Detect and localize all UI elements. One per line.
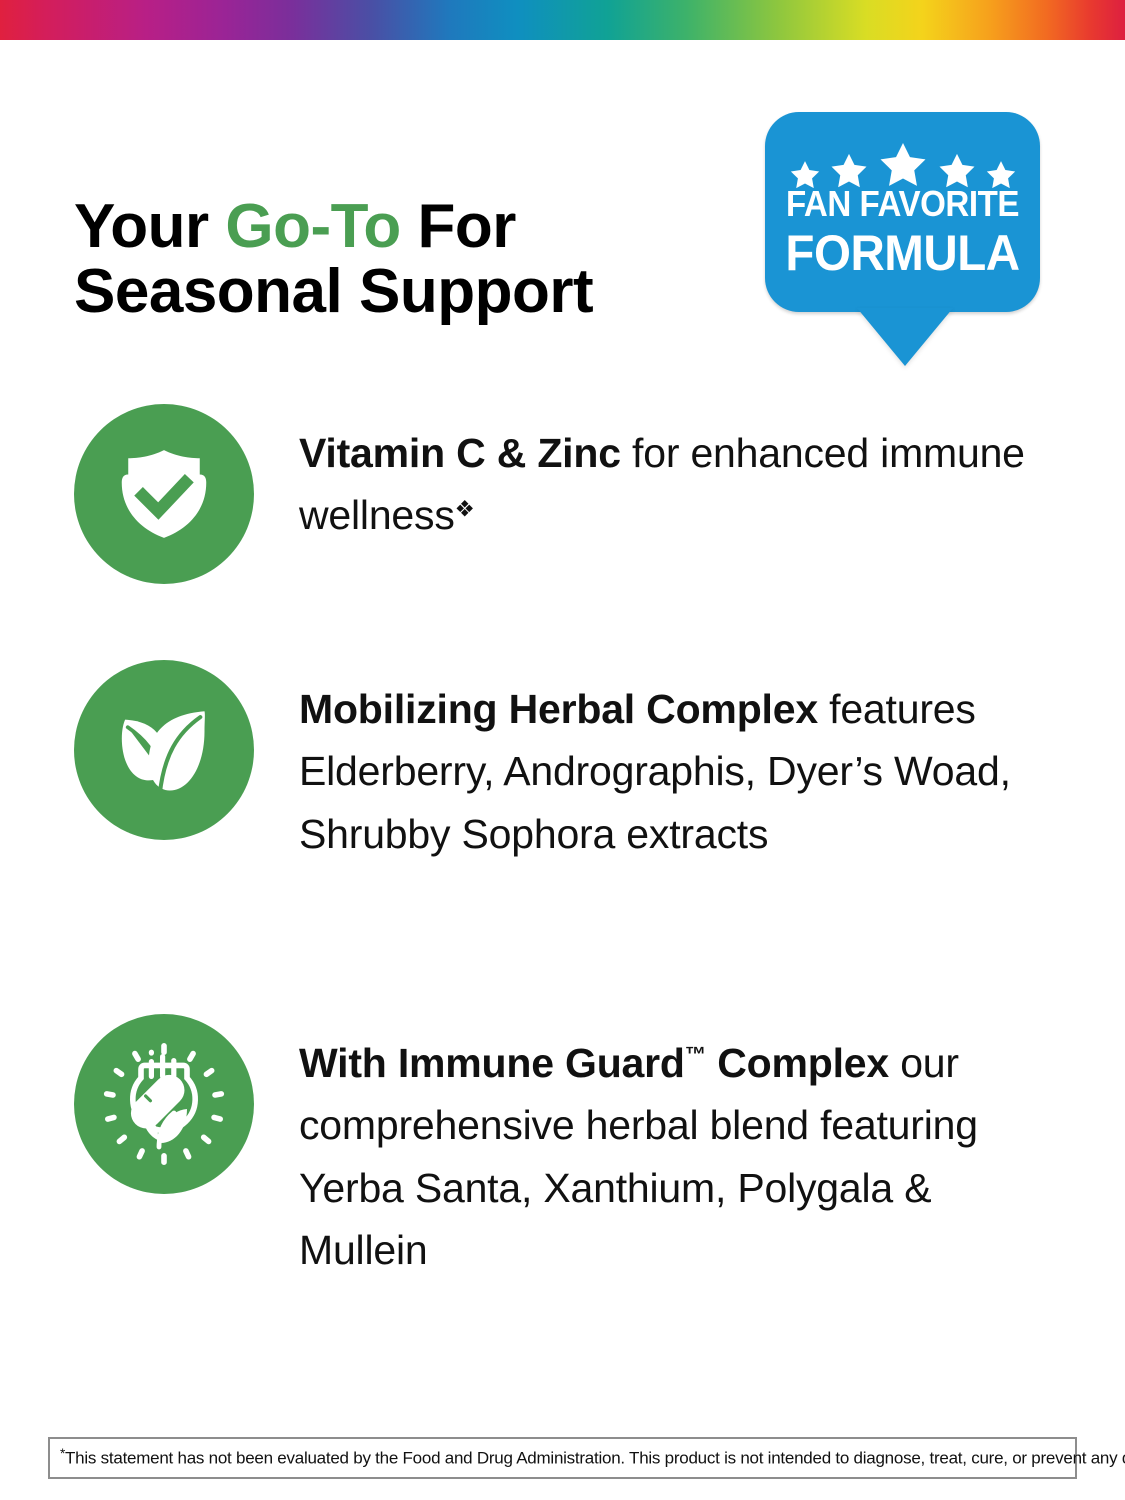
headline-accent-goto: Go-To	[225, 192, 400, 261]
badge-label-line-2: FORMULA	[772, 228, 1033, 278]
headline-line-2: Seasonal Support	[74, 257, 593, 326]
fan-favorite-badge: FAN FAVORITE FORMULA	[765, 112, 1040, 312]
feature-title: With Immune Guard™ Complex	[299, 1040, 889, 1086]
lightbulb-capsule-leaf-icon	[74, 1014, 254, 1194]
feature-row: Vitamin C & Zinc for enhanced immune wel…	[74, 404, 1034, 584]
headline-line-1: Your Go-To For	[74, 192, 516, 261]
feature-title-pre: With Immune Guard	[299, 1040, 685, 1086]
feature-row: With Immune Guard™ Complex our comprehen…	[74, 1014, 1034, 1281]
badge-label: FAN FAVORITE FORMULA	[765, 186, 1040, 278]
feature-row: Mobilizing Herbal Complex features Elder…	[74, 660, 1034, 865]
footnote-marker-icon: ❖	[455, 497, 475, 522]
feature-title: Vitamin C & Zinc	[299, 430, 621, 476]
leaves-icon	[74, 660, 254, 840]
badge-label-line-1: FAN FAVORITE	[776, 186, 1029, 222]
trademark-icon: ™	[685, 1043, 706, 1067]
disclaimer-text: This statement has not been evaluated by…	[65, 1448, 1125, 1467]
feature-description: Mobilizing Herbal Complex features Elder…	[254, 660, 1034, 865]
feature-title-post: Complex	[706, 1040, 889, 1086]
feature-description: With Immune Guard™ Complex our comprehen…	[254, 1014, 1034, 1281]
headline-text-for: For	[401, 192, 516, 261]
fda-disclaimer: *This statement has not been evaluated b…	[48, 1437, 1077, 1479]
feature-title: Mobilizing Herbal Complex	[299, 686, 818, 732]
badge-bubble-tail	[857, 308, 953, 366]
feature-description: Vitamin C & Zinc for enhanced immune wel…	[254, 404, 1034, 547]
page-title: Your Go-To For Seasonal Support	[74, 194, 714, 324]
shield-check-icon	[74, 404, 254, 584]
headline-text-your: Your	[74, 192, 225, 261]
rainbow-gradient-bar	[0, 0, 1125, 40]
